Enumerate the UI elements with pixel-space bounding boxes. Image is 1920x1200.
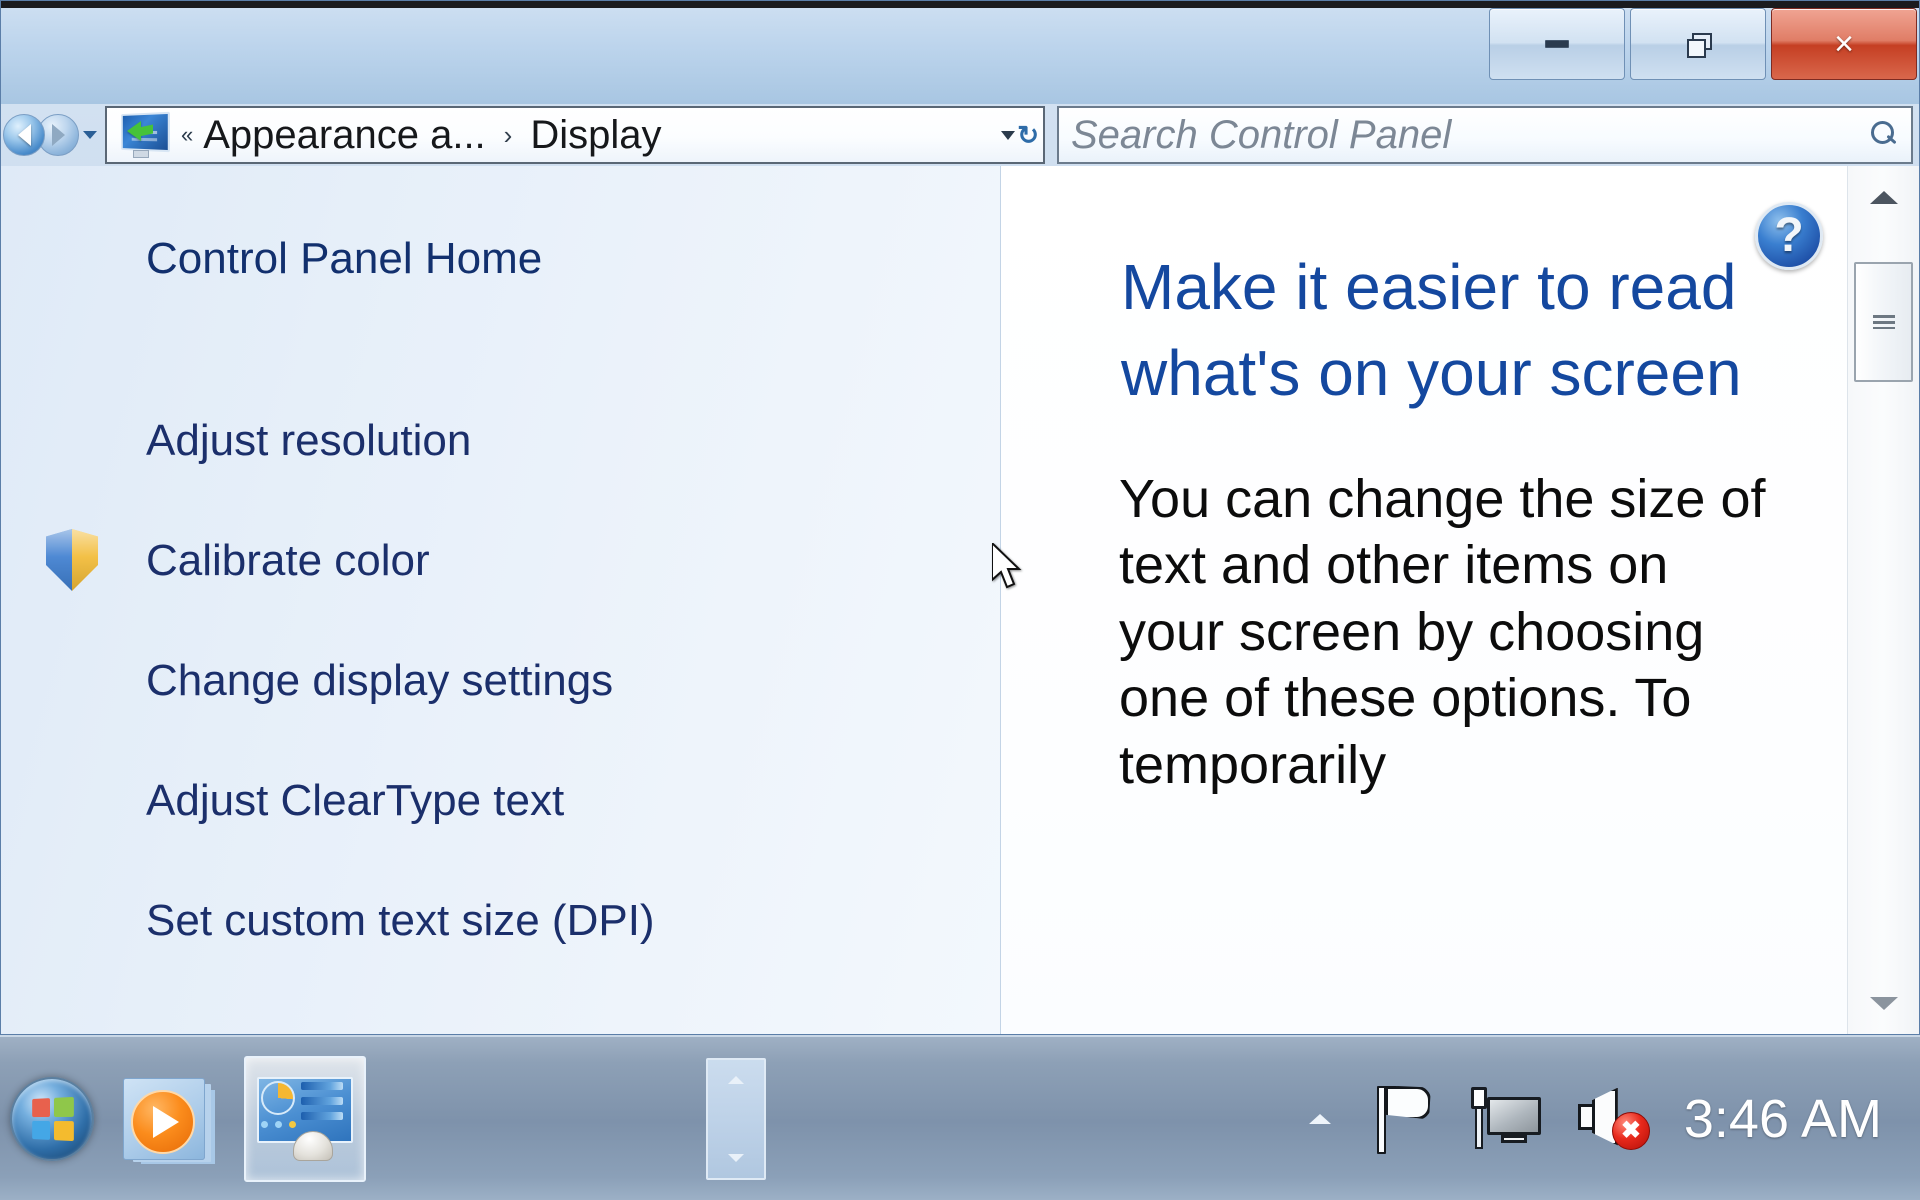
windows-logo-icon: [32, 1096, 74, 1140]
sidebar-item-label: Set custom text size (DPI): [146, 896, 655, 946]
network-button[interactable]: [1456, 1087, 1562, 1151]
sidebar-item-label: Adjust resolution: [146, 416, 471, 466]
system-tray: ✖ 3:46 AM: [1290, 1084, 1920, 1154]
back-arrow-icon: [18, 124, 31, 146]
maximize-restore-button[interactable]: [1630, 8, 1766, 80]
sidebar-item-calibrate-color[interactable]: Calibrate color: [1, 501, 1000, 621]
help-icon: ?: [1774, 212, 1803, 260]
chevron-up-icon: [1309, 1114, 1331, 1124]
breadcrumb-item-appearance[interactable]: Appearance a...: [199, 113, 489, 158]
close-icon: ×: [1834, 27, 1854, 61]
speaker-muted-icon: ✖: [1574, 1086, 1656, 1152]
address-bar-actions: ↻: [1001, 120, 1043, 151]
back-button[interactable]: [3, 114, 45, 156]
taskbar-scroll-buttons[interactable]: [706, 1058, 766, 1180]
scrollbar-grip-icon: [1873, 315, 1895, 329]
sidebar: Control Panel Home Adjust resolution Cal…: [1, 166, 1001, 1034]
scroll-up-button[interactable]: [1848, 166, 1919, 228]
network-monitor-icon: [1473, 1087, 1545, 1151]
sidebar-item-adjust-resolution[interactable]: Adjust resolution: [1, 381, 1000, 501]
scrollbar-thumb[interactable]: [1854, 262, 1913, 382]
sidebar-item-control-panel-home[interactable]: Control Panel Home: [146, 234, 542, 284]
window-controls: ×: [1489, 8, 1917, 80]
help-button[interactable]: ?: [1755, 202, 1823, 270]
sidebar-item-label: Change display settings: [146, 656, 613, 706]
action-center-flag-icon: [1372, 1084, 1434, 1154]
page-title: Make it easier to read what's on your sc…: [1121, 244, 1761, 417]
navigation-bar: « Appearance a... › Display ↻ Search Con…: [1, 104, 1919, 166]
display-monitor-icon: [113, 109, 175, 161]
taskbar-item-windows-media-player[interactable]: [108, 1056, 230, 1182]
page-description: You can change the size of text and othe…: [1119, 466, 1779, 798]
main-pane: ? Make it easier to read what's on your …: [1001, 166, 1919, 1034]
sidebar-item-label: Adjust ClearType text: [146, 776, 564, 826]
search-input[interactable]: Search Control Panel: [1071, 113, 1451, 158]
start-button[interactable]: [10, 1077, 94, 1161]
sidebar-links: Adjust resolution Calibrate color Change…: [1, 381, 1000, 981]
nav-buttons: [1, 114, 97, 156]
breadcrumb-separator-icon[interactable]: ›: [490, 120, 527, 151]
address-bar[interactable]: « Appearance a... › Display ↻: [105, 106, 1045, 164]
close-button[interactable]: ×: [1771, 8, 1917, 80]
scroll-down-button[interactable]: [1848, 972, 1919, 1034]
refresh-icon[interactable]: ↻: [1017, 120, 1039, 151]
content-area: Control Panel Home Adjust resolution Cal…: [1, 166, 1919, 1034]
sidebar-item-set-custom-text-size-dpi[interactable]: Set custom text size (DPI): [1, 861, 1000, 981]
restore-icon: [1687, 33, 1709, 55]
taskbar-scroll-down-icon[interactable]: [728, 1154, 744, 1162]
screen: × «: [0, 0, 1920, 1200]
sidebar-item-label: Calibrate color: [146, 536, 430, 586]
taskbar-clock[interactable]: 3:46 AM: [1668, 1088, 1908, 1150]
minimize-icon: [1545, 40, 1569, 48]
uac-shield-icon: [46, 529, 98, 591]
recent-pages-chevron-down-icon[interactable]: [83, 131, 97, 139]
title-bar[interactable]: ×: [1, 1, 1919, 104]
taskbar-scroll-up-icon[interactable]: [728, 1076, 744, 1084]
sidebar-item-adjust-cleartype-text[interactable]: Adjust ClearType text: [1, 741, 1000, 861]
media-player-icon: [117, 1072, 221, 1166]
control-panel-window: × «: [0, 0, 1920, 1035]
search-box[interactable]: Search Control Panel: [1057, 106, 1913, 164]
breadcrumb-overflow-chevron-icon[interactable]: «: [175, 122, 199, 148]
taskbar-item-control-panel[interactable]: [244, 1056, 366, 1182]
vertical-scrollbar[interactable]: [1847, 166, 1919, 1034]
address-history-chevron-down-icon[interactable]: [1001, 131, 1015, 140]
taskbar: ✖ 3:46 AM: [0, 1035, 1920, 1200]
forward-arrow-icon: [52, 124, 65, 146]
sidebar-item-change-display-settings[interactable]: Change display settings: [1, 621, 1000, 741]
chevron-up-icon: [1870, 191, 1898, 204]
action-center-button[interactable]: [1350, 1084, 1456, 1154]
control-panel-icon: [253, 1073, 357, 1165]
search-icon[interactable]: [1869, 120, 1899, 150]
minimize-button[interactable]: [1489, 8, 1625, 80]
chevron-down-icon: [1870, 997, 1898, 1010]
show-hidden-icons-button[interactable]: [1290, 1114, 1350, 1124]
breadcrumb-item-display[interactable]: Display: [526, 113, 665, 158]
volume-button[interactable]: ✖: [1562, 1086, 1668, 1152]
title-bar-top-strip: [1, 1, 1919, 8]
